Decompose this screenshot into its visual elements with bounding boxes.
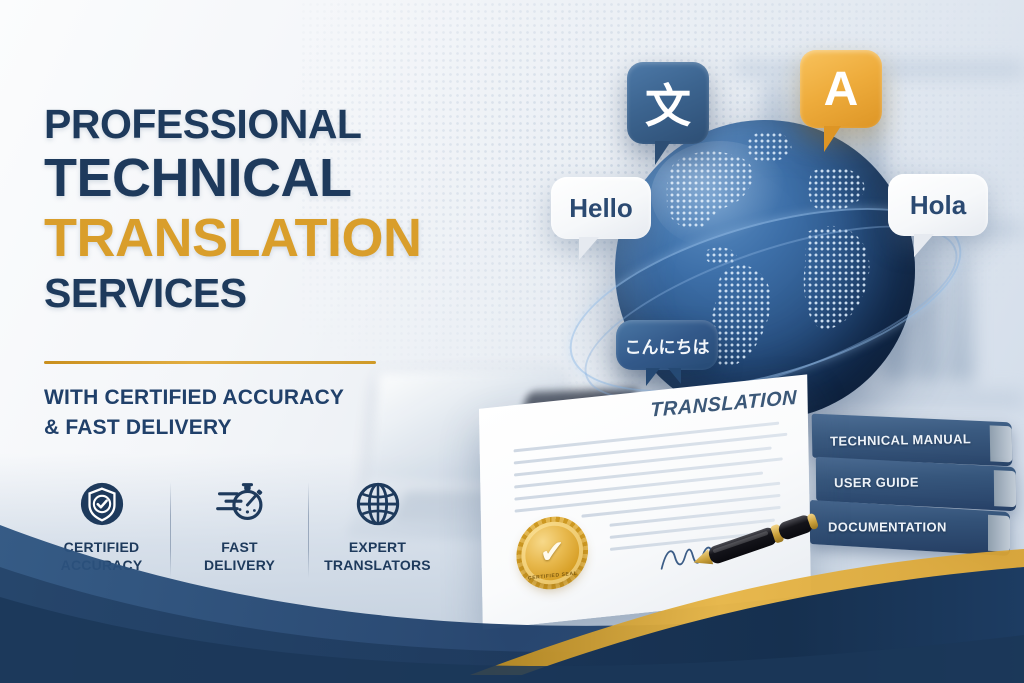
headline-line-technical: TECHNICAL (44, 151, 421, 205)
speech-bubble-latin-text: A (824, 62, 859, 117)
speech-bubble-hello-text: Hello (569, 193, 633, 224)
subheadline-block: WITH CERTIFIED ACCURACY & FAST DELIVERY (44, 383, 344, 444)
headline-line-professional: PROFESSIONAL (44, 104, 421, 145)
headline-line-translation: TRANSLATION (44, 211, 421, 265)
bubble-tail-second (668, 368, 681, 384)
book-title: USER GUIDE (834, 474, 919, 490)
book-title: TECHNICAL MANUAL (830, 431, 971, 448)
headline-line-services: SERVICES (44, 273, 421, 314)
bubble-tail (824, 126, 841, 152)
globe-illustration (615, 120, 915, 420)
speech-bubble-hello: Hello (551, 177, 651, 239)
bubble-tail (646, 368, 660, 386)
speech-bubble-japanese: こんにちは (616, 320, 718, 370)
speech-bubble-chinese: 文 (627, 62, 709, 144)
bubble-tail (579, 237, 599, 260)
headline-block: PROFESSIONAL TECHNICAL TRANSLATION SERVI… (44, 104, 421, 314)
speech-bubble-latin: A (800, 50, 882, 128)
bottom-wave-decoration (0, 493, 1024, 683)
bubble-tail (914, 234, 934, 257)
speech-bubble-hola-text: Hola (910, 190, 966, 221)
subheadline-line-2: & FAST DELIVERY (44, 413, 344, 443)
speech-bubble-japanese-text: こんにちは (625, 333, 710, 358)
gold-divider-rule (44, 361, 376, 364)
document-title: TRANSLATION (650, 387, 797, 423)
bubble-tail (655, 141, 671, 165)
speech-bubble-hola: Hola (888, 174, 988, 236)
translation-services-banner: 文 A Hello Hola こんにちは TECHNICAL MANUAL US… (0, 0, 1024, 683)
speech-bubble-chinese-text: 文 (645, 70, 691, 136)
subheadline-line-1: WITH CERTIFIED ACCURACY (44, 383, 344, 413)
